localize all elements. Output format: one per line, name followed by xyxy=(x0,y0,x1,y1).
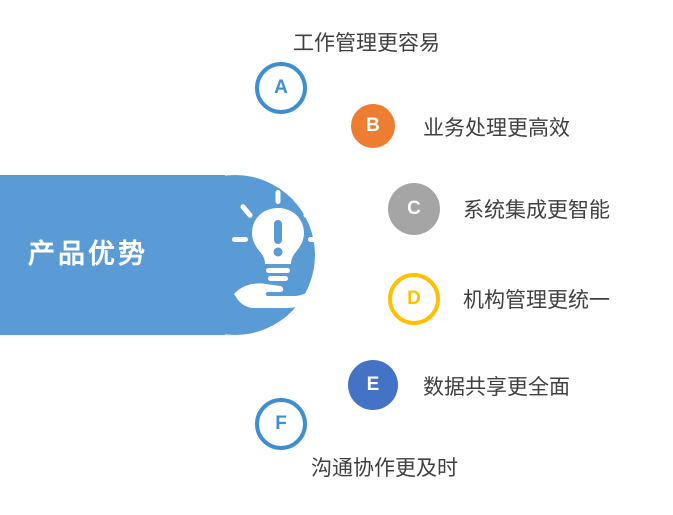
bullet-circle-f[interactable]: F xyxy=(255,398,307,450)
item-text-b: 业务处理更高效 xyxy=(423,112,570,142)
item-text-d: 机构管理更统一 xyxy=(463,284,610,314)
lightbulb-in-hand-icon xyxy=(228,190,328,310)
bullet-letter-f: F xyxy=(275,414,287,433)
slide-canvas: 产品优势 xyxy=(0,0,673,515)
bullet-circle-c[interactable]: C xyxy=(388,183,440,235)
item-text-c: 系统集成更智能 xyxy=(463,194,610,224)
item-text-e: 数据共享更全面 xyxy=(423,371,570,401)
bullet-letter-e: E xyxy=(367,375,380,394)
bullet-circle-b[interactable]: B xyxy=(348,101,398,151)
banner-label: 产品优势 xyxy=(28,232,148,271)
item-text-f: 沟通协作更及时 xyxy=(311,452,458,482)
bullet-circle-e[interactable]: E xyxy=(348,360,398,410)
bullet-letter-a: A xyxy=(274,78,288,97)
bullet-letter-c: C xyxy=(407,199,421,218)
bullet-letter-b: B xyxy=(366,116,380,135)
item-text-a: 工作管理更容易 xyxy=(293,27,440,57)
bullet-circle-d[interactable]: D xyxy=(388,273,440,325)
bullet-circle-a[interactable]: A xyxy=(255,62,307,114)
bullet-letter-d: D xyxy=(407,289,421,308)
